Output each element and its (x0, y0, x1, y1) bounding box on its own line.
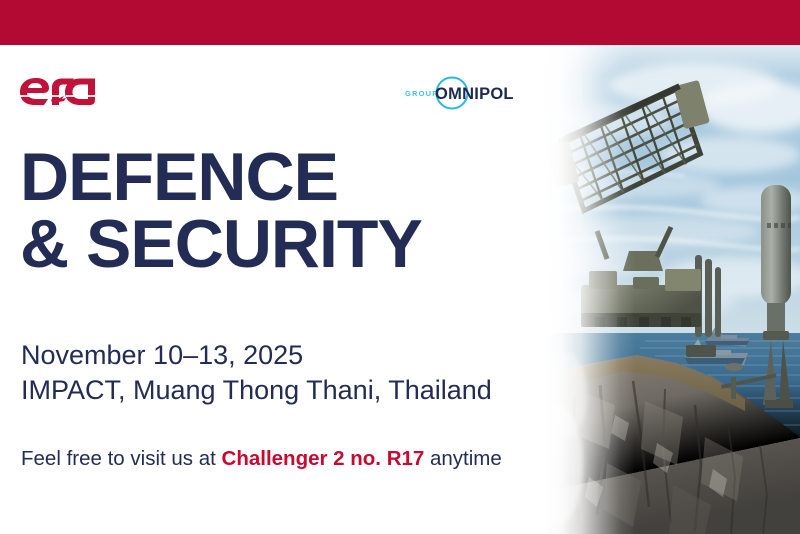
event-venue: IMPACT, Muang Thong Thani, Thailand (21, 373, 551, 408)
cta-suffix: anytime (424, 447, 501, 470)
headline-line-1: DEFENCE (20, 144, 540, 211)
omnipol-group-label: GROUP (405, 89, 439, 98)
era-logo[interactable] (16, 72, 98, 110)
page-title: DEFENCE & SECURITY (20, 144, 540, 277)
hero-photo-illustration (545, 45, 800, 534)
event-details: November 10–13, 2025 IMPACT, Muang Thong… (21, 338, 551, 408)
event-dates: November 10–13, 2025 (21, 338, 551, 373)
era-logo-mark (16, 72, 98, 110)
top-banner (0, 0, 800, 45)
hero-photo (545, 45, 800, 534)
omnipol-logo[interactable]: GROUP OMNIPOL (404, 73, 516, 113)
headline-line-2: & SECURITY (20, 211, 540, 278)
omnipol-wordmark: OMNIPOL (435, 85, 514, 103)
cta-prefix: Feel free to visit us at (21, 447, 222, 470)
cta-line: Feel free to visit us at Challenger 2 no… (21, 447, 561, 472)
cta-booth: Challenger 2 no. R17 (222, 447, 425, 470)
logo-row: GROUP OMNIPOL (0, 45, 545, 125)
omnipol-logo-mark: GROUP OMNIPOL (404, 73, 516, 113)
